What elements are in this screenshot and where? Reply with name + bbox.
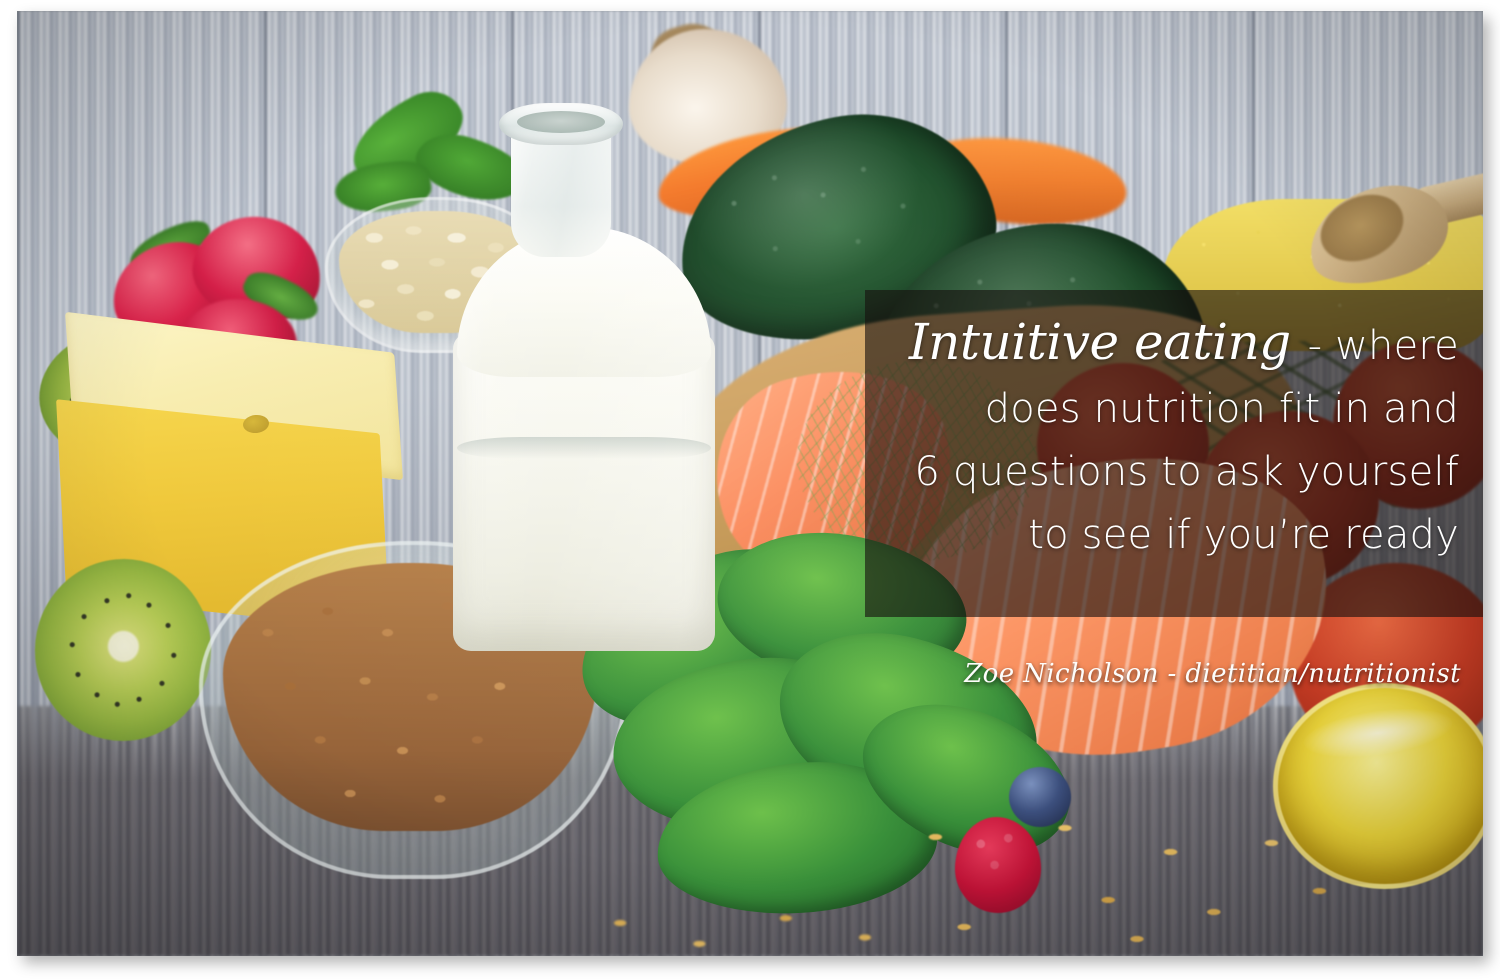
headline-line-1-rest: - where <box>1295 323 1459 369</box>
wheat-grains <box>577 891 937 956</box>
headline-line-1: Intuitive eating - where <box>865 311 1459 378</box>
milk-fill-line <box>457 437 711 459</box>
milk-bottle-body <box>453 333 715 651</box>
author-byline: Zoe Nicholson - dietitian/nutritionist <box>865 659 1477 689</box>
photo-card: Intuitive eating - where does nutrition … <box>17 11 1483 956</box>
headline-line-2: does nutrition fit in and <box>865 378 1459 441</box>
blueberry <box>1009 767 1071 827</box>
milk-bottle-neck <box>511 131 611 257</box>
page-root: Intuitive eating - where does nutrition … <box>0 0 1500 980</box>
headline-script-phrase: Intuitive eating <box>909 313 1295 371</box>
headline-line-4: to see if you’re ready <box>865 504 1459 567</box>
milk-bottle-opening <box>517 111 605 133</box>
headline-text: Intuitive eating - where does nutrition … <box>865 311 1471 567</box>
headline-line-3: 6 questions to ask yourself <box>865 441 1459 504</box>
